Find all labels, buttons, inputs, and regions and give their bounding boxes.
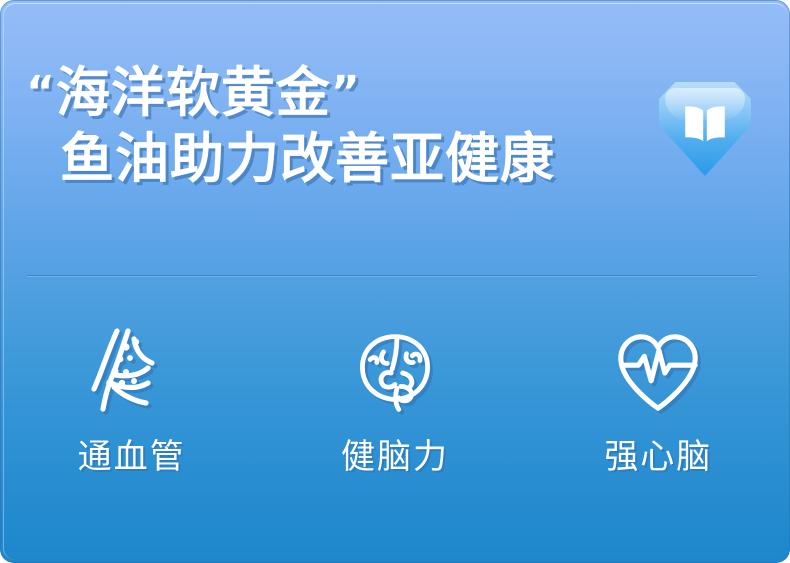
heart-pulse-icon bbox=[610, 325, 706, 421]
brain-icon bbox=[347, 325, 443, 421]
feature-label-blood-vessel: 通血管 bbox=[78, 437, 186, 477]
headline-line-1: “海洋软黄金” bbox=[0, 62, 680, 124]
feature-row: 通血管 bbox=[0, 325, 790, 477]
promo-banner: “海洋软黄金” 鱼油助力改善亚健康 bbox=[0, 0, 790, 563]
feature-label-heart-pulse: 强心脑 bbox=[604, 437, 712, 477]
open-quote-mark: “ bbox=[26, 67, 56, 118]
close-quote-mark: ” bbox=[331, 67, 361, 118]
section-divider bbox=[27, 275, 757, 276]
feature-item-brain: 健脑力 bbox=[295, 325, 495, 477]
blood-vessel-icon bbox=[84, 325, 180, 421]
feature-item-heart-pulse: 强心脑 bbox=[558, 325, 758, 477]
headline-line-2: 鱼油助力改善亚健康 bbox=[0, 128, 680, 190]
feature-label-brain: 健脑力 bbox=[341, 437, 449, 477]
headline-line-1-text: 海洋软黄金 bbox=[56, 61, 331, 124]
feature-item-blood-vessel: 通血管 bbox=[32, 325, 232, 477]
headline-block: “海洋软黄金” 鱼油助力改善亚健康 bbox=[0, 62, 680, 190]
open-book-icon bbox=[682, 104, 728, 146]
book-badge bbox=[659, 82, 751, 176]
